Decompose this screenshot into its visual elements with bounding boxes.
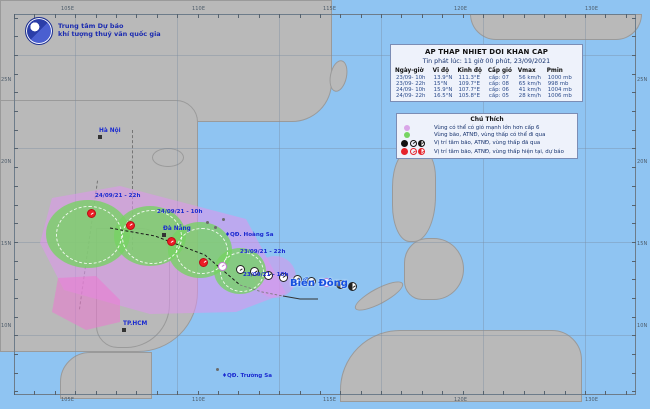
panel-title: AP THAP NHIET DOI KHAN CAP <box>395 48 578 56</box>
legend-label: Vùng có thể có gió mạnh lớn hơn cấp 6 <box>434 125 539 131</box>
map-legend: Chú Thích Vùng có thể có gió mạnh lớn hơ… <box>396 113 578 159</box>
table-col-1: Vĩ độ <box>433 68 458 75</box>
green-circle-icon <box>404 132 410 138</box>
city-dot-icon <box>98 135 102 139</box>
table-cell: 1006 mb <box>547 93 578 99</box>
archipelago-label: ♦QĐ. Hoàng Sa <box>225 232 274 238</box>
storm-info-panel: AP THAP NHIET DOI KHAN CAP Tin phát lúc:… <box>390 44 583 102</box>
table-col-3: Cấp gió <box>488 68 518 75</box>
forecast-time-label: 23/09/21 - 22h <box>240 249 285 255</box>
table-col-0: Ngày-giờ <box>395 68 433 75</box>
panel-issue-time: Tin phát lúc: 11 giờ 00 phút, 23/09/2021 <box>395 58 578 65</box>
sea-name-label: Biển Đông <box>290 278 348 289</box>
globe-logo-icon <box>25 17 53 45</box>
archipelago-label: ♦QĐ. Trường Sa <box>222 373 272 379</box>
storm-symbol-icon <box>418 140 425 147</box>
legend-item: Vị trí tâm bão, ATNĐ, vùng thấp hiện tại… <box>401 148 573 155</box>
storm-position-past-icon <box>348 282 357 291</box>
island-dot-icon <box>222 218 225 221</box>
storm-symbol-icon <box>401 140 408 147</box>
table-body: 23/09- 10h13.9°N111.3°Ecấp: 0756 km/h100… <box>395 75 578 99</box>
table-header-row: Ngày-giờVĩ độKinh độCấp gióVmaxPmin <box>395 68 578 75</box>
black-storm-symbols-icon <box>401 140 429 147</box>
legend-item: Vị trí tâm bão, ATNĐ, vùng thấp đã qua <box>401 140 573 147</box>
agency-name-line2: khí tượng thuỷ văn quốc gia <box>58 31 161 39</box>
table-cell: 24/09- 22h <box>395 93 433 99</box>
legend-items: Vùng có thể có gió mạnh lớn hơn cấp 6Vùn… <box>401 125 573 156</box>
table-cell: 105.8°E <box>457 93 487 99</box>
island-dot-icon <box>214 226 217 229</box>
city-dot-icon <box>122 328 126 332</box>
storm-position-current-icon <box>199 258 208 267</box>
legend-label: Vùng bão, ATNĐ, vùng thấp có thể đi qua <box>434 132 545 138</box>
weather-map-screenshot: Hà NộiĐà NẵngTP.HCM ♦QĐ. Hoàng Sa♦QĐ. Tr… <box>0 0 650 409</box>
city-label: Hà Nội <box>99 128 121 134</box>
purple-circle-icon <box>404 125 410 131</box>
forecast-time-label: 24/09/21 - 22h <box>95 193 140 199</box>
forecast-time-label: 24/09/21 - 10h <box>157 209 202 215</box>
storm-position-current-icon <box>87 209 96 218</box>
legend-title: Chú Thích <box>401 116 573 123</box>
green-circle-icon <box>401 132 429 138</box>
table-col-2: Kinh độ <box>457 68 487 75</box>
table-cell: 28 km/h <box>518 93 547 99</box>
table-row: 24/09- 22h16.5°N105.8°Ecấp: 0528 km/h100… <box>395 93 578 99</box>
storm-symbol-icon <box>410 148 417 155</box>
forecast-time-label: 23/09/21 - 10h <box>243 272 288 278</box>
storm-position-current-icon <box>126 221 135 230</box>
storm-symbol-icon <box>401 148 408 155</box>
island-dot-icon <box>216 368 219 371</box>
city-dot-icon <box>162 233 166 237</box>
agency-header: Trung tâm Dự báo khí tượng thuỷ văn quốc… <box>25 17 161 45</box>
table-col-4: Vmax <box>518 68 547 75</box>
island-dot-icon <box>206 221 209 224</box>
city-label: TP.HCM <box>123 321 147 327</box>
table-cell: cấp: 05 <box>488 93 518 99</box>
red-storm-symbols-icon <box>401 148 429 155</box>
city-label: Đà Nẵng <box>163 226 191 232</box>
storm-position-current-icon <box>167 237 176 246</box>
storm-position-past-icon <box>218 262 227 271</box>
purple-circle-icon <box>401 125 429 131</box>
legend-label: Vị trí tâm bão, ATNĐ, vùng thấp đã qua <box>434 140 540 146</box>
storm-symbol-icon <box>418 148 425 155</box>
forecast-table: Ngày-giờVĩ độKinh độCấp gióVmaxPmin 23/0… <box>395 68 578 99</box>
legend-item: Vùng có thể có gió mạnh lớn hơn cấp 6 <box>401 125 573 131</box>
table-cell: 16.5°N <box>433 93 458 99</box>
legend-label: Vị trí tâm bão, ATNĐ, vùng thấp hiện tại… <box>434 149 564 155</box>
table-col-5: Pmin <box>547 68 578 75</box>
legend-item: Vùng bão, ATNĐ, vùng thấp có thể đi qua <box>401 132 573 138</box>
storm-symbol-icon <box>410 140 417 147</box>
